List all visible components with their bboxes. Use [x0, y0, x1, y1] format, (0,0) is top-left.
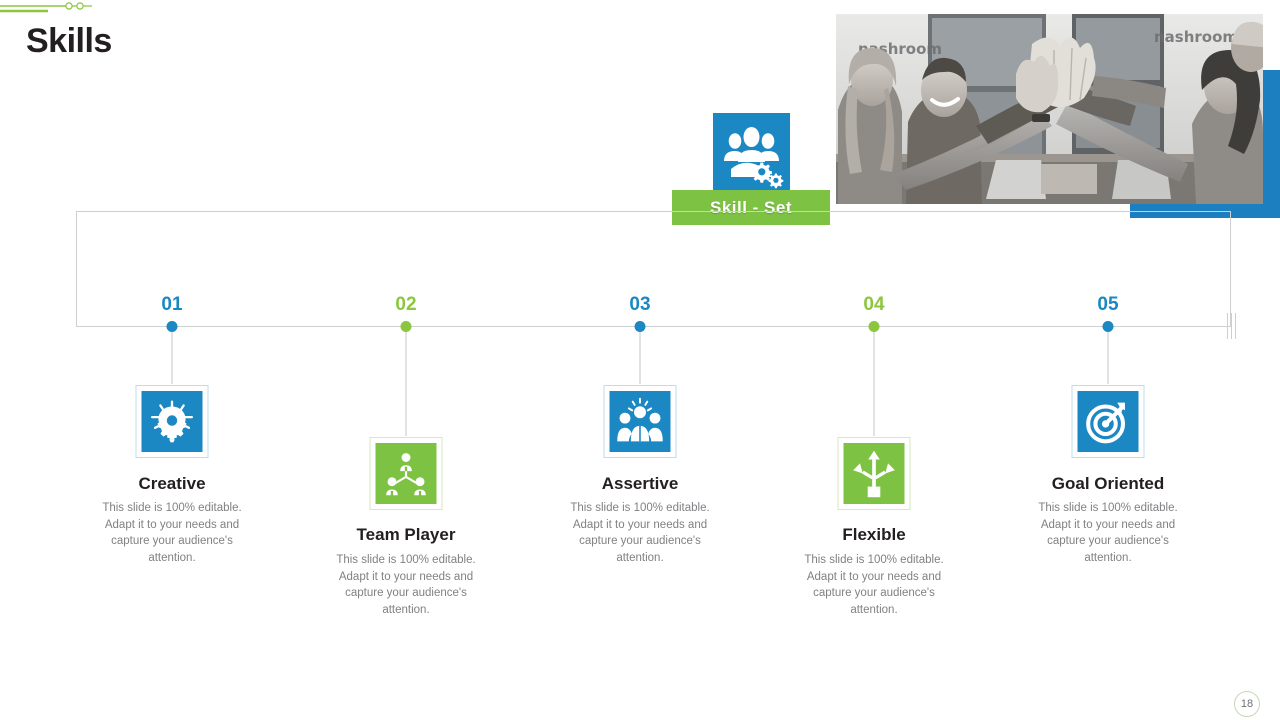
timeline-number-05: 05	[1097, 294, 1118, 316]
timeline-number-02: 02	[395, 294, 416, 316]
timeline-number-01: 01	[161, 294, 182, 316]
timeline-dot-01[interactable]	[167, 321, 178, 332]
icon-tile-team-player[interactable]	[370, 437, 443, 510]
page-title: Skills	[26, 22, 112, 61]
item-title-team-player: Team Player	[357, 525, 456, 545]
item-desc-goal-oriented: This slide is 100% editable. Adapt it to…	[1028, 500, 1188, 566]
timeline-end-tick-1	[1227, 313, 1228, 339]
icon-tile-assertive[interactable]	[604, 385, 677, 458]
item-title-assertive: Assertive	[602, 474, 679, 494]
item-desc-assertive: This slide is 100% editable. Adapt it to…	[560, 500, 720, 566]
decorative-rule	[0, 2, 110, 16]
timeline-stem-05	[1108, 332, 1109, 384]
timeline-dot-04[interactable]	[869, 321, 880, 332]
timeline-dot-03[interactable]	[635, 321, 646, 332]
icon-tile-creative[interactable]	[136, 385, 209, 458]
multi-direction-arrows-icon	[844, 443, 905, 504]
timeline-dot-05[interactable]	[1103, 321, 1114, 332]
item-title-creative: Creative	[138, 474, 205, 494]
timeline-end-tick-2	[1231, 313, 1232, 339]
timeline-stem-02	[406, 332, 407, 436]
timeline-stem-03	[640, 332, 641, 384]
timeline-number-04: 04	[863, 294, 884, 316]
item-desc-team-player: This slide is 100% editable. Adapt it to…	[326, 552, 486, 618]
timeline-end-tick-3	[1235, 313, 1236, 339]
svg-text:nashroom: nashroom	[1154, 28, 1238, 46]
timeline-stem-01	[172, 332, 173, 384]
skill-set-icon	[713, 113, 790, 190]
target-dart-icon	[1078, 391, 1139, 452]
item-title-goal-oriented: Goal Oriented	[1052, 474, 1164, 494]
timeline-panel	[76, 211, 1231, 327]
timeline-stem-04	[874, 332, 875, 436]
team-hierarchy-icon	[376, 443, 437, 504]
page-number-badge: 18	[1234, 691, 1260, 717]
icon-tile-goal-oriented[interactable]	[1072, 385, 1145, 458]
item-title-flexible: Flexible	[842, 525, 905, 545]
item-desc-creative: This slide is 100% editable. Adapt it to…	[92, 500, 252, 566]
timeline-number-03: 03	[629, 294, 650, 316]
team-high-five-photo: nashroom nashroom	[836, 14, 1263, 204]
three-people-leader-icon	[610, 391, 671, 452]
item-desc-flexible: This slide is 100% editable. Adapt it to…	[794, 552, 954, 618]
icon-tile-flexible[interactable]	[838, 437, 911, 510]
lightbulb-gear-icon	[142, 391, 203, 452]
timeline-axis	[76, 326, 1231, 327]
timeline-dot-02[interactable]	[401, 321, 412, 332]
